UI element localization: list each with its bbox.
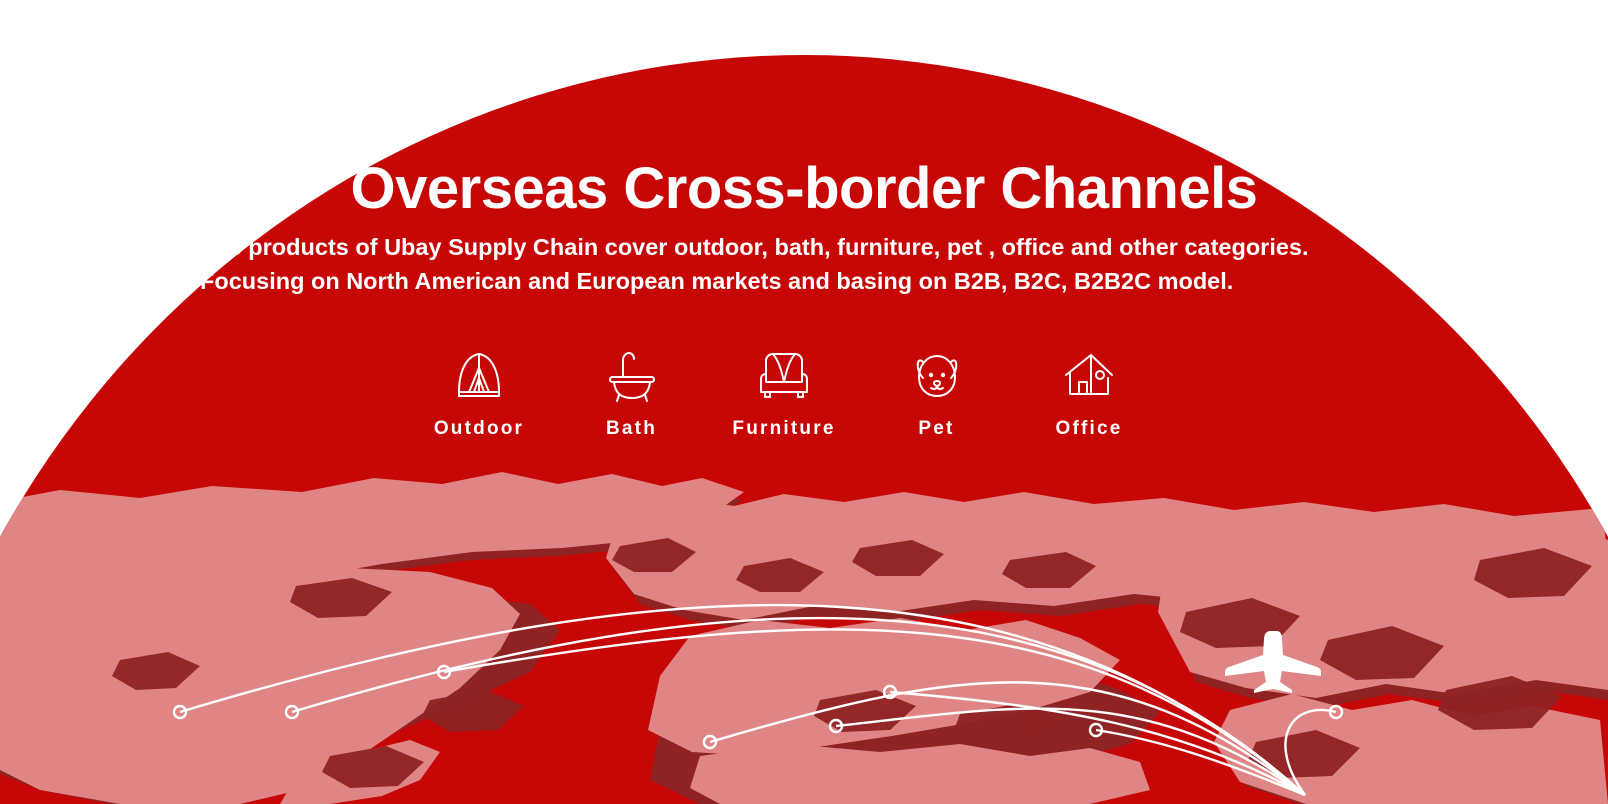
category-item-bath[interactable]: Bath xyxy=(557,348,707,440)
category-item-pet[interactable]: Pet xyxy=(862,348,1012,440)
category-item-furniture[interactable]: Furniture xyxy=(709,348,859,440)
category-list: Outdoor Bath xyxy=(404,348,1164,448)
category-item-office[interactable]: Office xyxy=(1014,348,1164,440)
tent-icon xyxy=(451,348,507,404)
armchair-icon xyxy=(756,348,812,404)
category-label: Bath xyxy=(606,418,657,440)
category-label: Furniture xyxy=(732,418,835,440)
category-item-outdoor[interactable]: Outdoor xyxy=(404,348,554,440)
airplane-icon xyxy=(1214,627,1324,695)
bathtub-icon xyxy=(604,348,660,404)
category-label: Pet xyxy=(918,418,954,440)
category-label: Office xyxy=(1055,418,1122,440)
house-icon xyxy=(1061,348,1117,404)
category-label: Outdoor xyxy=(434,418,524,440)
banner-stage: Overseas Cross-border Channels The produ… xyxy=(0,0,1608,804)
page-title: Overseas Cross-border Channels xyxy=(0,160,1608,218)
dog-face-icon xyxy=(909,348,965,404)
banner-description: The products of Ubay Supply Chain cover … xyxy=(200,230,1395,298)
